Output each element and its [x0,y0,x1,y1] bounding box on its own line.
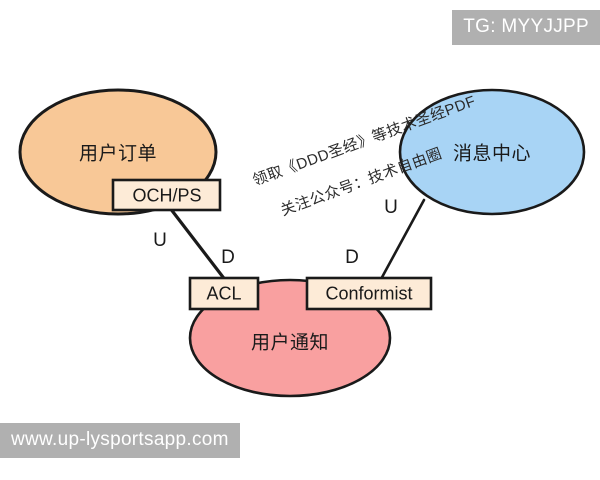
edge-label-downstream-right: D [345,247,359,269]
telegram-watermark-banner: TG: MYYJJPP [452,10,600,45]
edge-label-downstream-left: D [221,247,235,269]
edge-line-order-acl [170,208,226,281]
site-watermark-banner: www.up-lysportsapp.com [0,423,240,458]
edge-label-upstream-left: U [153,230,167,252]
box-label-conformist: Conformist [325,284,412,305]
box-label-acl: ACL [206,284,241,305]
box-label-och-ps: OCH/PS [132,186,201,207]
node-label-user-order: 用户订单 [79,139,157,166]
diagram-canvas: 用户订单 消息中心 用户通知 OCH/PS ACL Conformist U D… [0,0,600,480]
diagram-graphics [0,0,600,480]
node-label-user-notification: 用户通知 [251,328,329,355]
node-label-message-center: 消息中心 [453,139,531,166]
edge-label-upstream-right: U [384,197,398,219]
